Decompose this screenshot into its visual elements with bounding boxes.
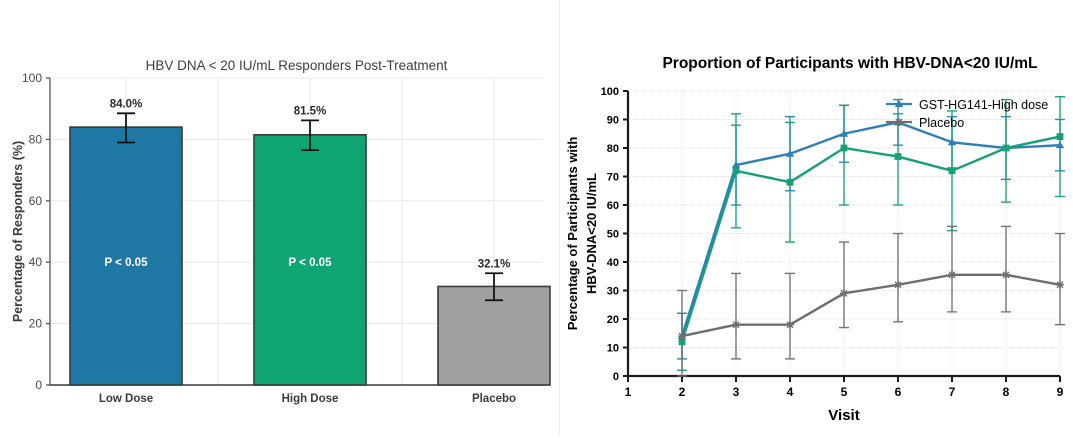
line-y-tick-label: 60 [607,200,619,212]
chart-element [786,321,794,329]
chart-element [948,271,956,279]
line-error-bars-gst-hg141-high-dose [677,100,1065,359]
chart-element [949,167,956,174]
line-error-bars-placebo [677,226,1065,376]
line-y-tick-label: 20 [607,314,619,326]
chart-element: Proportion of Participants with HBV-DNA<… [565,55,1065,424]
bar-p-value-annotation: P < 0.05 [289,257,333,269]
bar-y-tick-label: 100 [22,71,42,85]
line-x-tick-label: 4 [787,385,794,399]
bar-y-tick-label: 20 [29,317,43,331]
chart-element [732,321,740,329]
line-x-tick-label: 3 [733,385,740,399]
line-y-tick-label: 80 [607,143,619,155]
bar-y-tick-label: 40 [29,255,43,269]
line-x-tick-label: 7 [949,385,956,399]
chart-element [894,281,902,289]
bar-chart-title: HBV DNA < 20 IU/mL Responders Post-Treat… [146,58,448,73]
chart-element [1003,145,1010,152]
line-y-tick-label: 30 [607,286,619,298]
bar-y-tick-label: 60 [29,194,43,208]
chart-element: Percentage of Participants with [565,137,580,331]
line-y-tick-label: 90 [607,115,619,127]
bar-x-tick-label: High Dose [282,393,339,405]
line-x-axis-label: Visit [828,407,859,424]
bar-y-axis-label: Percentage of Responders (%) [11,141,25,322]
bar-placebo [438,286,550,385]
line-x-tick-label: 2 [679,385,686,399]
line-chart-svg: Proportion of Participants with HBV-DNA<… [560,0,1073,435]
line-chart-panel: Proportion of Participants with HBV-DNA<… [560,0,1073,435]
chart-element [733,167,740,174]
chart-element [1057,133,1064,140]
bar-value-label: 81.5% [294,105,327,117]
line-x-tick-label: 5 [841,385,848,399]
bar-value-label: 32.1% [478,258,511,270]
bar-y-tick-label: 0 [35,378,42,392]
bar-x-tick-label: Low Dose [99,393,153,405]
line-y-tick-label: 0 [613,371,619,383]
line-y-tick-label: 40 [607,257,619,269]
bar-y-tick-label: 80 [29,132,43,146]
legend-label-0: GST-HG141-High dose [919,98,1048,112]
bar-value-label: 84.0% [110,98,143,110]
bar-chart-panel: HBV DNA < 20 IU/mL Responders Post-Treat… [0,0,560,435]
line-y-axis-label: Percentage of Participants withHBV-DNA<2… [565,137,599,331]
line-x-tick-label: 6 [895,385,902,399]
line-chart-legend: GST-HG141-High dosePlacebo [886,98,1048,130]
chart-element [787,179,794,186]
chart-element [1056,281,1064,289]
bar-chart-svg: HBV DNA < 20 IU/mL Responders Post-Treat… [0,0,560,435]
line-x-tick-label: 8 [1003,385,1010,399]
legend-label-1: Placebo [919,116,964,130]
bar-x-tick-label: Placebo [472,393,516,405]
line-y-tick-label: 10 [607,343,619,355]
chart-element [841,145,848,152]
line-y-tick-label: 70 [607,172,619,184]
bar-low-dose [70,127,182,385]
chart-element [678,332,686,340]
bar-p-value-annotation: P < 0.05 [105,257,149,269]
chart-element: HBV-DNA<20 IU/mL [584,173,599,294]
line-x-tick-label: 9 [1057,385,1064,399]
chart-element [895,153,902,160]
line-y-tick-label: 100 [601,86,619,98]
chart-element: HBV DNA < 20 IU/mL Responders Post-Treat… [11,58,550,405]
line-y-tick-label: 50 [607,229,619,241]
figure-container: HBV DNA < 20 IU/mL Responders Post-Treat… [0,0,1073,435]
line-series-gst-hg141-high-dose [682,122,1060,336]
chart-element [840,289,848,297]
chart-element [895,118,903,126]
chart-element [1002,271,1010,279]
line-chart-title: Proportion of Participants with HBV-DNA<… [662,55,1037,72]
line-x-tick-label: 1 [625,385,632,399]
